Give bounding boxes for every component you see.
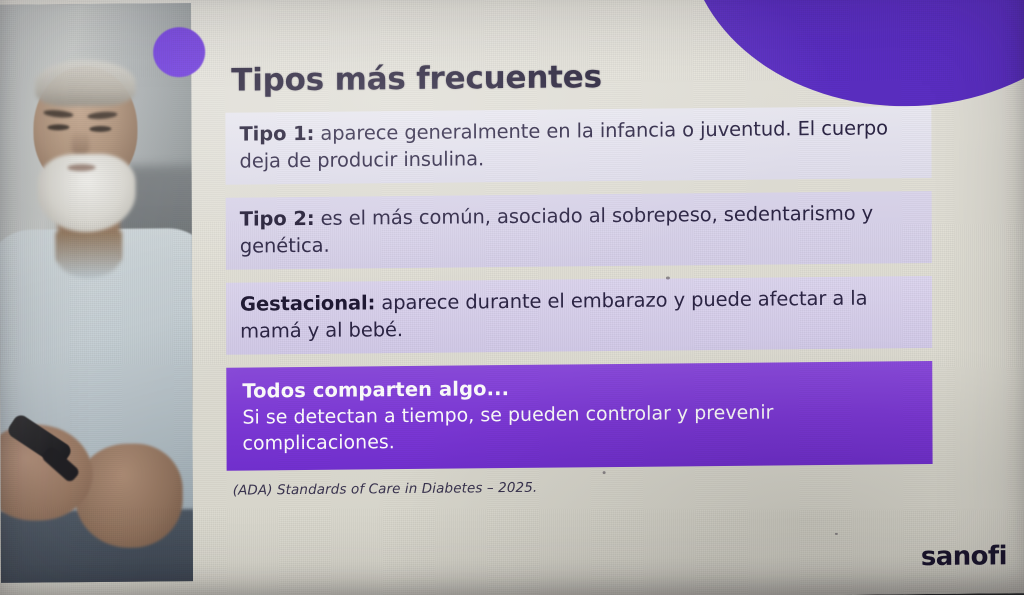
slide-content: Tipos más frecuentes Tipo 1: aparece gen… [225,56,932,499]
screen-dust-speck [666,276,670,279]
screenshot-stage: día mundial de la diabetes 14 noviembre … [0,0,1024,595]
sanofi-logo: sanofi [921,541,1007,572]
source-citation: (ADA) Standards of Care in Diabetes – 20… [233,476,933,499]
photo-person-hair [35,60,135,107]
type-2-text: es el más común, asociado al sobrepeso, … [240,202,873,258]
slide-photo [0,3,193,583]
page-title: Tipos más frecuentes [231,56,931,99]
cta-body: Si se detectan a tiempo, se pueden contr… [242,399,916,456]
presentation-slide: día mundial de la diabetes 14 noviembre … [0,0,1024,595]
type-1-text: aparece generalmente en la infancia o ju… [239,116,888,172]
screen-dust-speck [603,471,606,474]
gestational-block: Gestacional: aparece durante el embarazo… [226,276,932,355]
call-to-action-block: Todos comparten algo... Si se detectan a… [226,361,932,471]
screen-dust-speck [835,533,838,535]
photo-person-hand-right [75,443,183,548]
photo-person-nose [71,130,89,156]
gestational-label: Gestacional: [240,291,375,315]
photographed-screen: día mundial de la diabetes 14 noviembre … [0,0,1024,595]
type-2-label: Tipo 2: [240,207,315,231]
type-2-block: Tipo 2: es el más común, asociado al sob… [226,191,932,270]
type-1-label: Tipo 1: [239,122,314,146]
type-1-block: Tipo 1: aparece generalmente en la infan… [225,106,931,185]
decorative-circle-icon [153,27,205,77]
